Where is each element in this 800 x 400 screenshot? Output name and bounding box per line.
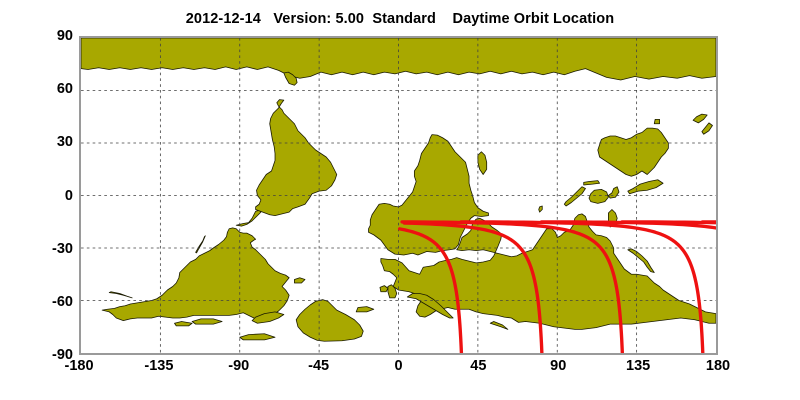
y-tick-label: 60	[27, 81, 73, 97]
x-tick-label: 45	[470, 358, 486, 374]
x-axis: -180-135-90-4504590135180	[0, 358, 800, 380]
plot-area	[79, 36, 718, 355]
y-tick-label: -60	[27, 294, 73, 310]
y-tick-label: -30	[27, 241, 73, 257]
x-tick-label: -135	[144, 358, 173, 374]
world-map-with-orbit-tracks	[81, 38, 716, 353]
y-tick-label: 90	[27, 28, 73, 44]
y-tick-label: 30	[27, 134, 73, 150]
land-tasmania	[654, 119, 659, 123]
x-tick-label: 0	[394, 358, 402, 374]
x-tick-label: -45	[308, 358, 329, 374]
y-tick-label: 0	[27, 188, 73, 204]
x-tick-label: 90	[550, 358, 566, 374]
chart-title: 2012-12-14 Version: 5.00 Standard Daytim…	[0, 11, 800, 27]
x-tick-label: -90	[228, 358, 249, 374]
x-tick-label: -180	[64, 358, 93, 374]
y-axis: 9060300-30-60-90	[26, 0, 73, 400]
orbit-location-figure: 2012-12-14 Version: 5.00 Standard Daytim…	[0, 0, 800, 400]
x-tick-label: 180	[706, 358, 730, 374]
x-tick-label: 135	[626, 358, 650, 374]
